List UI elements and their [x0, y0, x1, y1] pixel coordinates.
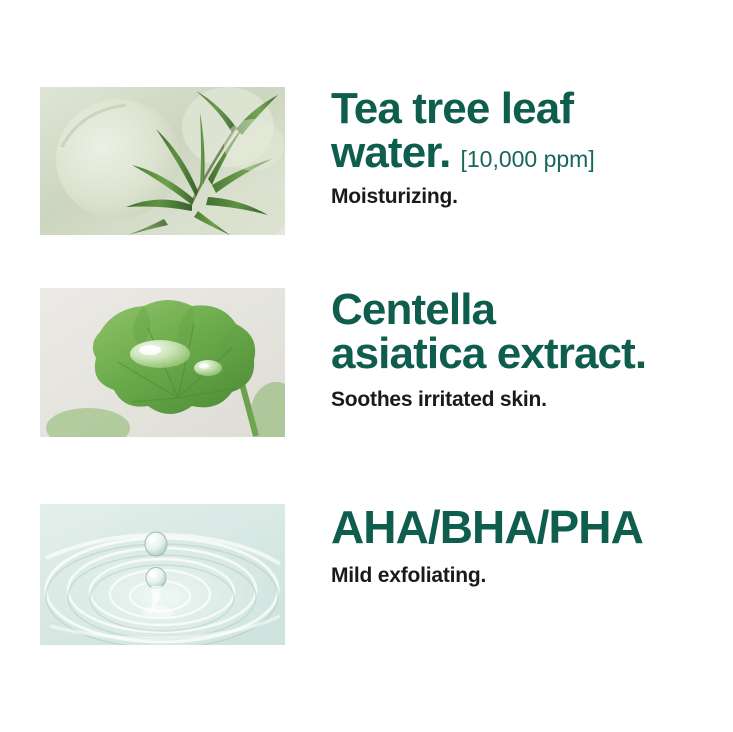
heading-line-1: AHA/BHA/PHA [331, 504, 726, 550]
ingredient-heading-tea-tree: Tea tree leaf water.[10,000 ppm] [331, 87, 726, 175]
ingredient-heading-acids: AHA/BHA/PHA [331, 504, 726, 550]
tea-tree-leaf-photo [40, 87, 285, 235]
centella-leaf-photo [40, 288, 285, 437]
dosage-label: [10,000 ppm] [460, 146, 594, 172]
acids-text-column: AHA/BHA/PHA Mild exfoliating. [331, 504, 726, 588]
heading-line-2-text: water. [331, 128, 450, 177]
centella-text-column: Centella asiatica extract. Soothes irrit… [331, 288, 726, 412]
ingredient-subtitle-acids: Mild exfoliating. [331, 564, 726, 588]
ingredient-subtitle-centella: Soothes irritated skin. [331, 388, 726, 412]
heading-line-1: Tea tree leaf [331, 87, 726, 131]
tea-tree-text-column: Tea tree leaf water.[10,000 ppm] Moistur… [331, 87, 726, 209]
ingredient-subtitle-tea-tree: Moisturizing. [331, 185, 726, 209]
water-ripple-photo [40, 504, 285, 645]
ingredient-infographic: Tea tree leaf water.[10,000 ppm] Moistur… [0, 0, 733, 732]
ingredient-heading-centella: Centella asiatica extract. [331, 288, 726, 376]
heading-line-1: Centella [331, 288, 726, 332]
heading-line-2: water.[10,000 ppm] [331, 131, 726, 175]
heading-line-2: asiatica extract. [331, 332, 726, 376]
